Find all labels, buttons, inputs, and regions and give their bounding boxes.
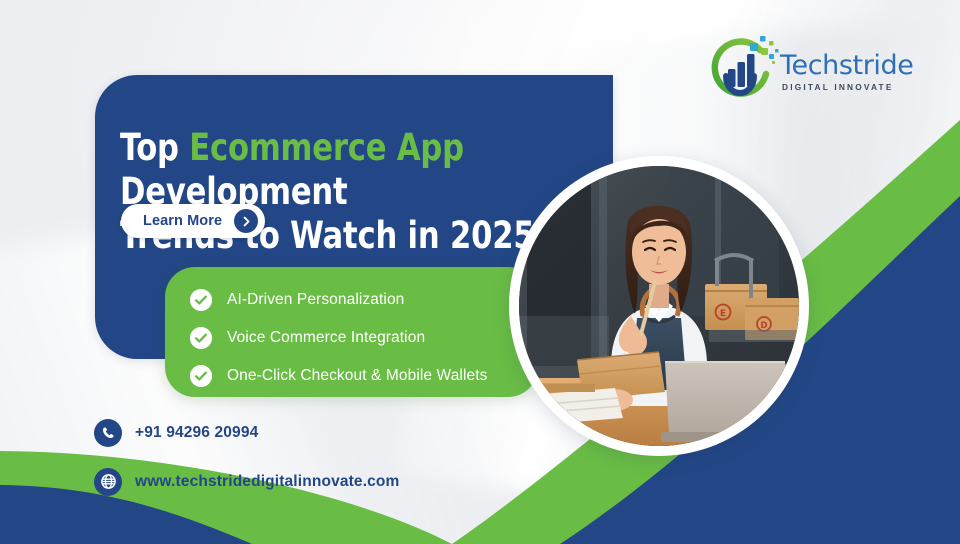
contact-phone-row[interactable]: +91 94296 20994 xyxy=(94,415,399,450)
hero-photo-illustration: E D xyxy=(519,166,799,446)
headline-line1-pre: Top xyxy=(120,126,189,169)
brand-logo[interactable]: Techstride DIGITAL INNOVATE xyxy=(706,33,872,107)
headline-accent: Ecommerce App xyxy=(189,126,464,169)
logo-tagline: DIGITAL INNOVATE xyxy=(782,82,894,92)
learn-more-label: Learn More xyxy=(143,213,222,229)
hero-photo-inner: E D xyxy=(519,166,799,446)
logo-text: Techstride DIGITAL INNOVATE xyxy=(780,52,913,92)
chevron-right-icon xyxy=(234,209,258,233)
promo-banner: Top Ecommerce App DevelopmentTrends to W… xyxy=(0,0,960,544)
phone-icon xyxy=(94,419,122,447)
hero-photo: E D xyxy=(509,156,809,456)
svg-text:E: E xyxy=(720,309,726,319)
globe-icon xyxy=(94,468,122,496)
list-item: AI-Driven Personalization xyxy=(190,281,540,319)
check-circle-icon xyxy=(190,365,212,387)
svg-text:D: D xyxy=(760,321,767,331)
feature-label: AI-Driven Personalization xyxy=(227,291,404,309)
feature-label: One-Click Checkout & Mobile Wallets xyxy=(227,367,487,385)
logo-mark-icon xyxy=(706,34,780,106)
features-list: AI-Driven Personalization Voice Commerce… xyxy=(190,281,540,395)
contact-website-row[interactable]: www.techstridedigitalinnovate.com xyxy=(94,464,399,499)
contact-block: +91 94296 20994 www.techstridedigitalinn… xyxy=(94,415,399,499)
feature-label: Voice Commerce Integration xyxy=(227,329,425,347)
website-url: www.techstridedigitalinnovate.com xyxy=(135,473,399,491)
phone-number: +91 94296 20994 xyxy=(135,424,258,442)
logo-brand-name: Techstride xyxy=(780,52,913,79)
learn-more-button[interactable]: Learn More xyxy=(121,204,265,238)
list-item: Voice Commerce Integration xyxy=(190,319,540,357)
check-circle-icon xyxy=(190,327,212,349)
check-circle-icon xyxy=(190,289,212,311)
list-item: One-Click Checkout & Mobile Wallets xyxy=(190,357,540,395)
